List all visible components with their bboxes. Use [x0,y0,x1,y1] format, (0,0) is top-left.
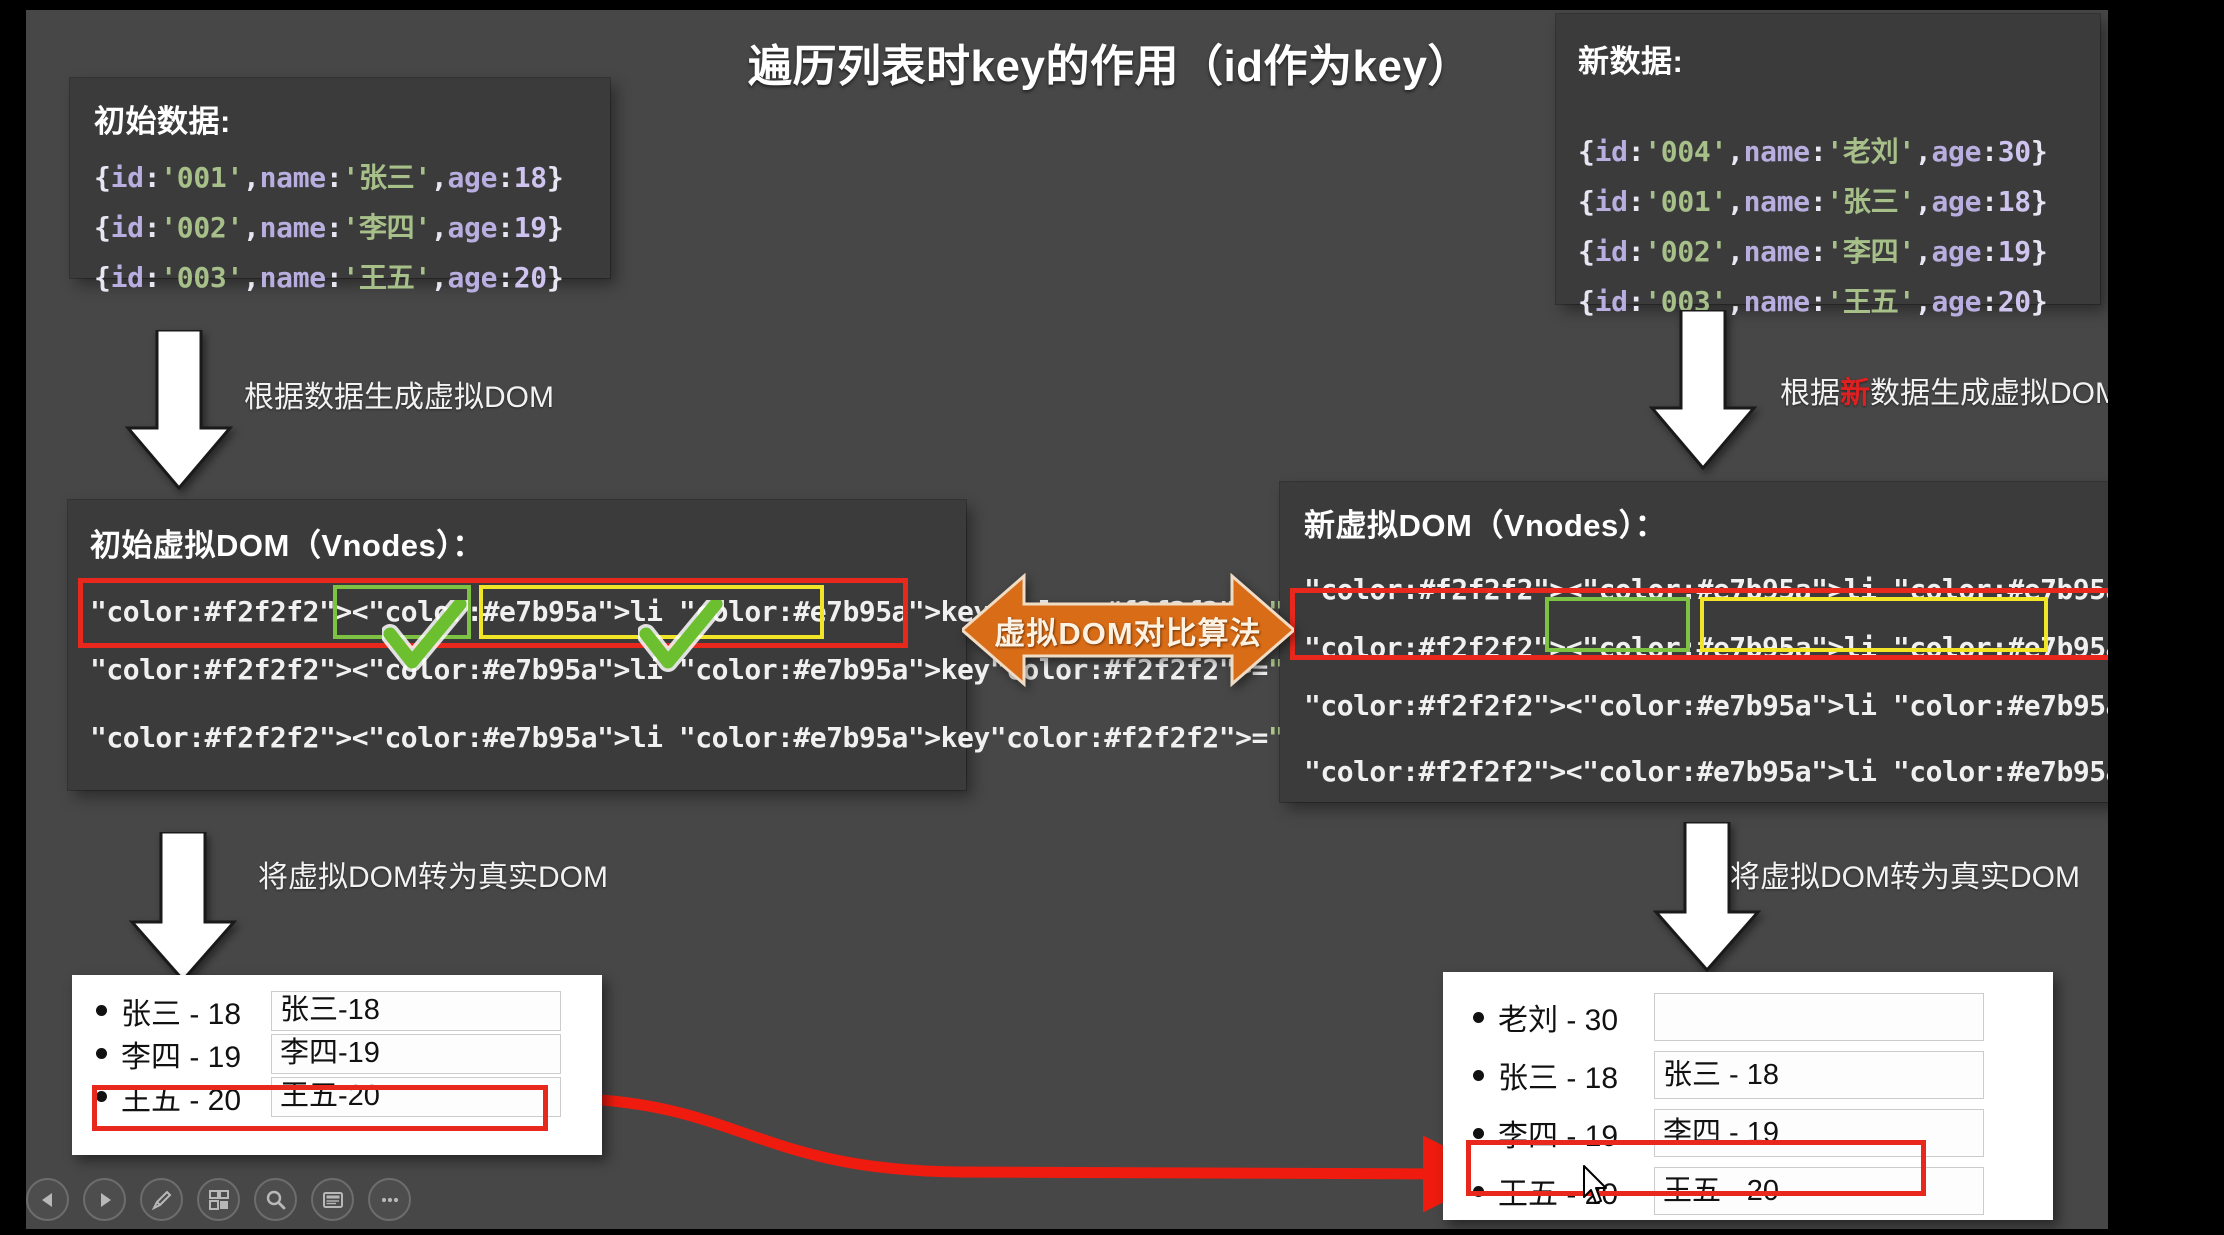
annotation-right-top-suffix: 数据生成虚拟DOM [1870,377,2120,410]
mouse-cursor-icon [1582,1165,1612,1209]
pen-tool-button[interactable] [140,1178,183,1221]
frame-edge-left [0,0,26,1235]
initial-real-dom-panel: 张三 - 18 张三-18 李四 - 19 李四-19 王五 - 20 王五-2… [72,975,602,1155]
frame-edge-top [0,0,2224,10]
list-item: 李四 - 19 李四 - 19 [1443,1104,2053,1162]
presenter-view-button[interactable] [311,1178,354,1221]
new-data-row: {id:'001',name:'张三',age:18} [1578,177,2078,227]
red-connector-arrow [540,1050,1500,1230]
list-item-label: 王五 - 20 [121,1075,271,1119]
initial-data-title: 初始数据: [94,96,588,141]
list-item-input[interactable] [1654,993,1984,1041]
list-item-input[interactable]: 张三-18 [271,991,561,1031]
vdom-line: "color:#f2f2f2"><"color:#e7b95a">li "col… [1304,677,2142,735]
initial-data-row: {id:'001',name:'张三',age:18} [94,153,588,203]
annotation-left-bottom: 将虚拟DOM转为真实DOM [258,852,608,896]
list-item: 王五 - 20 王五 - 20 [1443,1162,2053,1220]
annotation-right-top-prefix: 根据 [1780,377,1840,410]
frame-edge-right [2108,0,2224,1235]
bullet-icon [96,1048,107,1059]
magnifier-icon [265,1189,287,1211]
vdom-line: "color:#f2f2f2"><"color:#e7b95a">li "col… [1304,743,2142,801]
new-data-panel: 新数据: {id:'004',name:'老刘',age:30} {id:'00… [1556,14,2100,304]
bullet-icon [1473,1012,1484,1023]
annotation-right-top-hot: 新 [1840,377,1870,410]
list-item-label: 王五 - 20 [1498,1169,1654,1213]
triangle-left-icon [39,1191,57,1209]
list-item-label: 李四 - 19 [1498,1111,1654,1155]
frame-edge-bottom [0,1229,2224,1235]
pen-icon [151,1189,173,1211]
new-data-row: {id:'004',name:'老刘',age:30} [1578,127,2078,177]
list-item: 老刘 - 30 [1443,988,2053,1046]
initial-vdom-title: 初始虚拟DOM（Vnodes）： [90,520,966,565]
next-slide-button[interactable] [83,1178,126,1221]
slide-overview-button[interactable] [197,1178,240,1221]
list-item: 张三 - 18 张三 - 18 [1443,1046,2053,1104]
initial-data-panel: 初始数据: {id:'001',name:'张三',age:18} {id:'0… [70,78,610,278]
bullet-icon [96,1091,107,1102]
presentation-slide: 遍历列表时key的作用（id作为key） 初始数据: {id:'001',nam… [0,0,2224,1235]
vdom-line: "color:#f2f2f2"><"color:#e7b95a">li "col… [90,583,966,641]
previous-slide-button[interactable] [26,1178,69,1221]
list-item-input[interactable]: 王五 - 20 [1654,1167,1984,1215]
presentation-toolbar[interactable] [26,1178,411,1221]
new-data-row: {id:'002',name:'李四',age:19} [1578,227,2078,277]
list-item-label: 李四 - 19 [121,1032,271,1076]
vdom-line: "color:#f2f2f2"><"color:#e7b95a">li "col… [1304,619,2142,677]
bullet-icon [1473,1070,1484,1081]
page-title: 遍历列表时key的作用（id作为key） [660,30,1560,94]
list-item-input[interactable]: 张三 - 18 [1654,1051,1984,1099]
down-arrow-left-bottom [128,832,238,982]
list-item-input[interactable]: 李四 - 19 [1654,1109,1984,1157]
initial-vdom-panel: 初始虚拟DOM（Vnodes）： "color:#f2f2f2"><"color… [68,500,966,790]
list-item-label: 张三 - 18 [1498,1053,1654,1097]
list-item: 张三 - 18 张三-18 [72,989,602,1032]
down-arrow-left-top [124,330,234,490]
new-real-dom-panel: 老刘 - 30 张三 - 18 张三 - 18 李四 - 19 李四 - 19 … [1443,972,2053,1220]
ellipsis-icon [379,1189,401,1211]
initial-data-row: {id:'003',name:'王五',age:20} [94,253,588,303]
more-options-button[interactable] [368,1178,411,1221]
annotation-left-top: 根据数据生成虚拟DOM [244,372,554,416]
new-vdom-title: 新虚拟DOM（Vnodes）： [1304,500,2142,545]
vdom-line: "color:#f2f2f2"><"color:#e7b95a">li "col… [1304,561,2142,619]
vdom-line: "color:#f2f2f2"><"color:#e7b95a">li "col… [90,641,966,699]
down-arrow-right-bottom [1652,822,1762,972]
bullet-icon [1473,1128,1484,1139]
new-vdom-panel: 新虚拟DOM（Vnodes）： "color:#f2f2f2"><"color:… [1280,482,2142,802]
list-item: 王五 - 20 王五-20 [72,1075,602,1118]
initial-data-row: {id:'002',name:'李四',age:19} [94,203,588,253]
grid-icon [208,1189,230,1211]
list-item-label: 老刘 - 30 [1498,995,1654,1039]
triangle-right-icon [96,1191,114,1209]
bullet-icon [1473,1186,1484,1197]
zoom-button[interactable] [254,1178,297,1221]
list-item-label: 张三 - 18 [121,989,271,1033]
list-item: 李四 - 19 李四-19 [72,1032,602,1075]
down-arrow-right-top [1648,310,1758,470]
new-data-title: 新数据: [1578,36,2078,81]
list-item-input[interactable]: 王五-20 [271,1077,561,1117]
annotation-right-top: 根据新数据生成虚拟DOM [1780,368,2120,412]
vdom-line: "color:#f2f2f2"><"color:#e7b95a">li "col… [90,709,966,767]
diff-algorithm-arrow: 虚拟DOM对比算法 [962,570,1294,690]
annotation-right-bottom: 将虚拟DOM转为真实DOM [1730,852,2080,896]
screen-icon [322,1189,344,1211]
diff-algorithm-label: 虚拟DOM对比算法 [962,570,1294,690]
bullet-icon [96,1005,107,1016]
list-item-input[interactable]: 李四-19 [271,1034,561,1074]
